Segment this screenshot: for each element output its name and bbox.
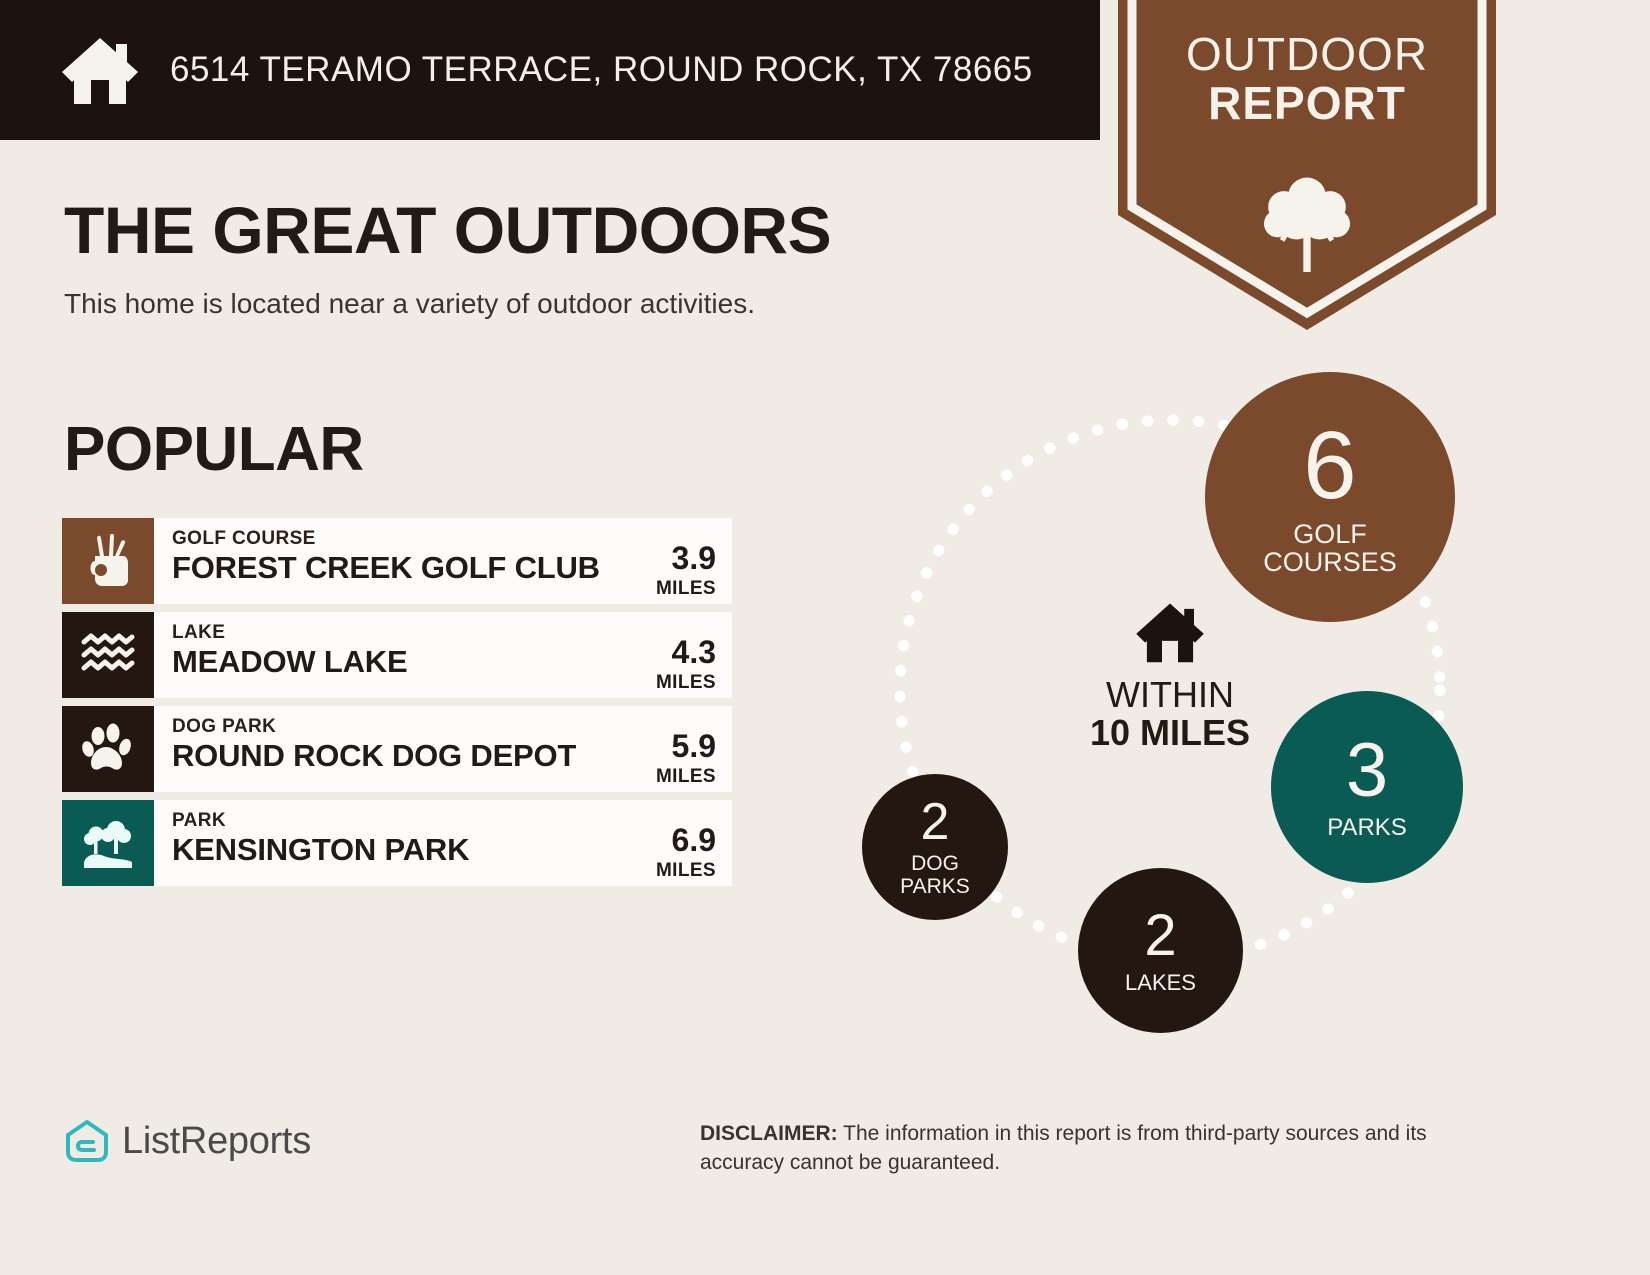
water-waves-icon <box>81 633 135 677</box>
listreports-logo-text: ListReports <box>122 1120 311 1163</box>
list-item-text: GOLF COURSE FOREST CREEK GOLF CLUB <box>172 528 600 586</box>
stat-label-line-2: COURSES <box>1263 548 1397 576</box>
stat-circle-parks[interactable]: 3 PARKS <box>1271 691 1463 883</box>
stat-count: 2 <box>921 796 950 848</box>
stat-label: LAKES <box>1125 971 1196 994</box>
stat-count: 3 <box>1346 733 1388 809</box>
list-item-body: DOG PARK ROUND ROCK DOG DEPOT 5.9 MILES <box>154 706 732 792</box>
list-item-body: GOLF COURSE FOREST CREEK GOLF CLUB 3.9 M… <box>154 518 732 604</box>
list-item-distance-unit: MILES <box>656 578 716 600</box>
stat-circle-lakes[interactable]: 2 LAKES <box>1078 868 1243 1033</box>
popular-heading: POPULAR <box>64 414 364 485</box>
list-item-text: LAKE MEADOW LAKE <box>172 622 407 680</box>
list-item-distance: 3.9 MILES <box>646 528 716 600</box>
list-item-category: LAKE <box>172 622 407 644</box>
list-item-distance: 5.9 MILES <box>646 716 716 788</box>
stat-count: 2 <box>1144 907 1176 965</box>
list-item[interactable]: DOG PARK ROUND ROCK DOG DEPOT 5.9 MILES <box>62 706 732 792</box>
diagram-center-line-1: WITHIN <box>1020 676 1320 714</box>
list-item-distance-value: 6.9 <box>656 824 716 856</box>
listreports-logo[interactable]: ListReports <box>64 1118 311 1164</box>
stat-label: PARKS <box>1327 815 1407 840</box>
stat-label-line-1: LAKES <box>1125 971 1196 994</box>
diagram-center: WITHIN 10 MILES <box>1020 600 1320 752</box>
list-item-icon-tile <box>62 706 154 792</box>
header-bar: 6514 TERAMO TERRACE, ROUND ROCK, TX 7866… <box>0 0 1100 140</box>
list-item[interactable]: PARK KENSINGTON PARK 6.9 MILES <box>62 800 732 886</box>
stat-count: 6 <box>1303 418 1356 514</box>
list-item[interactable]: GOLF COURSE FOREST CREEK GOLF CLUB 3.9 M… <box>62 518 732 604</box>
park-trees-icon <box>82 818 134 868</box>
list-item-text: DOG PARK ROUND ROCK DOG DEPOT <box>172 716 576 774</box>
list-item-distance-unit: MILES <box>656 672 716 694</box>
page-subtitle: This home is located near a variety of o… <box>64 288 755 320</box>
list-item-body: PARK KENSINGTON PARK 6.9 MILES <box>154 800 732 886</box>
list-item-distance-value: 3.9 <box>656 542 716 574</box>
list-item-distance-value: 4.3 <box>656 636 716 668</box>
stat-label-line-1: PARKS <box>1327 815 1407 840</box>
home-icon <box>60 34 140 106</box>
list-item-category: GOLF COURSE <box>172 528 600 550</box>
stat-label: DOG PARKS <box>900 853 970 897</box>
listreports-house-icon <box>64 1118 110 1164</box>
list-item-name: ROUND ROCK DOG DEPOT <box>172 739 576 774</box>
list-item-distance-value: 5.9 <box>656 730 716 762</box>
list-item-name: MEADOW LAKE <box>172 645 407 680</box>
property-address: 6514 TERAMO TERRACE, ROUND ROCK, TX 7866… <box>170 50 1033 90</box>
stat-label-line-2: PARKS <box>900 876 970 898</box>
list-item-icon-tile <box>62 612 154 698</box>
golf-bag-icon <box>85 534 131 588</box>
diagram-center-line-2: 10 MILES <box>1020 714 1320 752</box>
disclaimer: DISCLAIMER: The information in this repo… <box>700 1120 1510 1178</box>
popular-list: GOLF COURSE FOREST CREEK GOLF CLUB 3.9 M… <box>62 518 732 894</box>
within-10-miles-diagram: WITHIN 10 MILES 6 GOLF COURSES 3 PARKS 2… <box>820 350 1520 1050</box>
home-icon <box>1134 600 1206 664</box>
list-item-category: PARK <box>172 810 469 832</box>
disclaimer-label: DISCLAIMER: <box>700 1122 838 1145</box>
list-item-text: PARK KENSINGTON PARK <box>172 810 469 868</box>
stat-label-line-1: DOG <box>900 853 970 875</box>
stat-circle-golf-courses[interactable]: 6 GOLF COURSES <box>1205 372 1455 622</box>
list-item[interactable]: LAKE MEADOW LAKE 4.3 MILES <box>62 612 732 698</box>
list-item-distance: 4.3 MILES <box>646 622 716 694</box>
page-title: THE GREAT OUTDOORS <box>64 192 831 268</box>
list-item-category: DOG PARK <box>172 716 576 738</box>
list-item-name: KENSINGTON PARK <box>172 833 469 868</box>
list-item-icon-tile <box>62 518 154 604</box>
outdoor-report-badge: OUTDOOR REPORT <box>1118 0 1496 330</box>
list-item-distance: 6.9 MILES <box>646 810 716 882</box>
list-item-distance-unit: MILES <box>656 766 716 788</box>
paw-print-icon <box>82 723 134 775</box>
stat-label: GOLF COURSES <box>1263 520 1397 577</box>
list-item-name: FOREST CREEK GOLF CLUB <box>172 551 600 586</box>
stat-circle-dog-parks[interactable]: 2 DOG PARKS <box>862 774 1008 920</box>
list-item-icon-tile <box>62 800 154 886</box>
stat-label-line-1: GOLF <box>1263 520 1397 548</box>
list-item-body: LAKE MEADOW LAKE 4.3 MILES <box>154 612 732 698</box>
list-item-distance-unit: MILES <box>656 860 716 882</box>
